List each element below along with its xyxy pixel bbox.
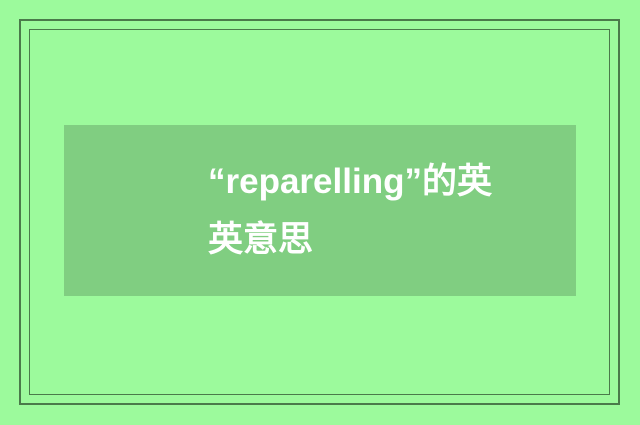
page-title: “reparelling”的英英意思 <box>208 153 526 269</box>
page-root: “reparelling”的英英意思 <box>0 0 640 425</box>
content-panel: “reparelling”的英英意思 <box>64 125 576 296</box>
